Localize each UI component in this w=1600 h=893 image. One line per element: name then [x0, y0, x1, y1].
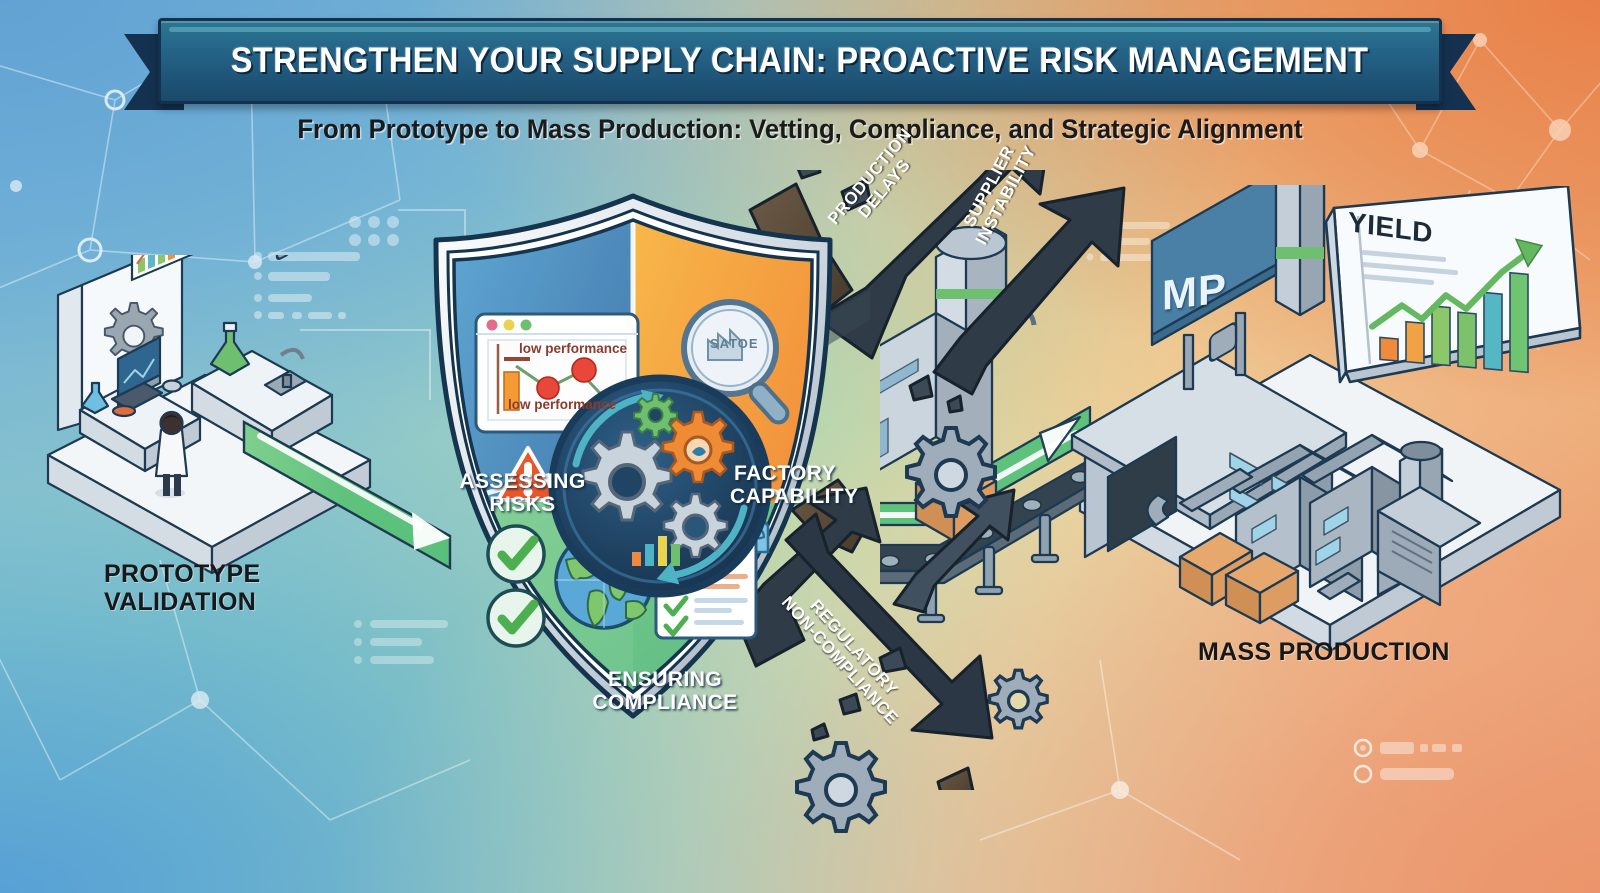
- stage-label-prototype-validation: PROTOTYPE VALIDATION: [104, 560, 260, 616]
- shield-quadrant-label-factory-capability: FACTORY CAPABILITY: [730, 462, 840, 508]
- shield-quadrant-label-ensuring-compliance: ENSURING COMPLIANCE: [590, 668, 740, 714]
- ensuring-compliance-line1: ENSURING: [590, 668, 740, 691]
- floating-gear-icon-3: [985, 665, 1057, 737]
- prototype-label-line1: PROTOTYPE: [104, 560, 260, 588]
- infographic-canvas: STRENGTHEN YOUR SUPPLY CHAIN: PROACTIVE …: [0, 0, 1600, 893]
- magnifier-factory-label: SATOE: [710, 336, 759, 351]
- factory-sign-label: MP: [1162, 264, 1227, 320]
- floating-gear-icon-2: [790, 735, 900, 845]
- shield-quadrant-label-assessing-risks: ASSESSING RISKS: [455, 470, 590, 516]
- ribbon-body: STRENGTHEN YOUR SUPPLY CHAIN: PROACTIVE …: [158, 18, 1442, 104]
- risk-chart-label-bottom: low performance: [508, 397, 616, 412]
- factory-capability-line1: FACTORY: [730, 462, 840, 485]
- ensuring-compliance-line2: COMPLIANCE: [590, 691, 740, 714]
- page-title: STRENGTHEN YOUR SUPPLY CHAIN: PROACTIVE …: [231, 41, 1369, 81]
- assessing-risks-line2: RISKS: [455, 493, 590, 516]
- factory-capability-line2: CAPABILITY: [730, 485, 840, 508]
- risk-chart-label-top: low performance: [519, 341, 627, 356]
- floating-gear-icon-1: [900, 420, 1010, 530]
- title-ribbon: STRENGTHEN YOUR SUPPLY CHAIN: PROACTIVE …: [124, 18, 1476, 110]
- stage-label-mass-production: MASS PRODUCTION: [1198, 638, 1450, 666]
- page-subtitle: From Prototype to Mass Production: Vetti…: [40, 114, 1560, 145]
- prototype-label-line2: VALIDATION: [104, 588, 260, 616]
- assessing-risks-line1: ASSESSING: [455, 470, 590, 493]
